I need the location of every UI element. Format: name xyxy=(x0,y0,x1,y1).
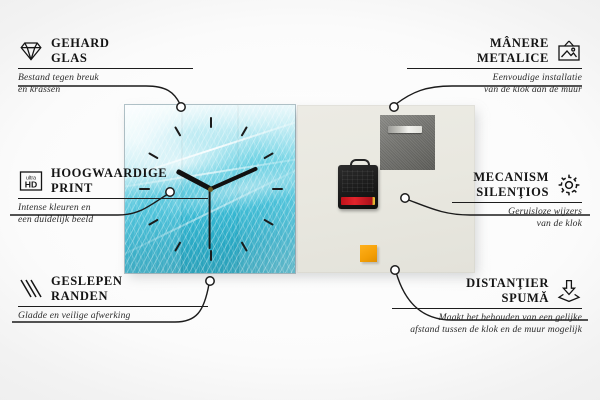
feature-title-line1: HOOGWAARDIGE xyxy=(51,166,167,181)
feature-header: MECANISM SILENŢIOS xyxy=(452,170,582,200)
feature-gehard-glas: GEHARD GLAS Bestand tegen breuk en krass… xyxy=(18,36,193,96)
feature-desc-line1: Bestand tegen breuk xyxy=(18,72,193,84)
battery xyxy=(341,197,375,205)
feature-title-line1: MECANISM xyxy=(473,170,549,185)
feature-title-line2: SILENŢIOS xyxy=(473,185,549,200)
feature-desc-line1: Geruisloze wijzers xyxy=(452,206,582,218)
feature-title-line1: GESLEPEN xyxy=(51,274,123,289)
feature-divider xyxy=(18,198,208,199)
feature-manere-metalice: MÂNERE METALICE Eenvoudige installatie v… xyxy=(407,36,582,96)
foam-spacer xyxy=(360,245,377,262)
feature-geslepen-randen: GESLEPEN RANDEN Gladde en veilige afwerk… xyxy=(18,274,208,322)
feature-header: ultra HD HOOGWAARDIGE PRINT xyxy=(18,166,208,196)
feature-desc-line2: afstand tussen de klok en de muur mogeli… xyxy=(392,324,582,336)
second-hand xyxy=(209,189,211,249)
feature-desc-line1: Maakt het behouden van een gelijke xyxy=(392,312,582,324)
feature-desc-line1: Intense kleuren en xyxy=(18,202,208,214)
hands-center-cap xyxy=(208,187,213,192)
feature-divider xyxy=(452,202,582,203)
feature-title-line1: MÂNERE xyxy=(477,36,549,51)
gear-icon xyxy=(556,172,582,198)
feature-divider xyxy=(392,308,582,309)
feature-title-line2: PRINT xyxy=(51,181,167,196)
feature-title-line2: GLAS xyxy=(51,51,109,66)
quartz-mechanism xyxy=(338,165,378,209)
svg-text:HD: HD xyxy=(25,180,37,190)
feature-mecanism-silentios: MECANISM SILENŢIOS Geruisloze wijzers va… xyxy=(452,170,582,230)
feature-title-line2: SPUMĂ xyxy=(466,291,549,306)
feature-divider xyxy=(407,68,582,69)
mechanism-texture xyxy=(342,170,374,192)
feature-desc-line2: een duidelijk beeld xyxy=(18,214,208,226)
feature-title-line1: DISTANŢIER xyxy=(466,276,549,291)
feature-title-line1: GEHARD xyxy=(51,36,109,51)
hanger-slot xyxy=(388,126,422,133)
picture-frame-icon xyxy=(556,38,582,64)
feature-divider xyxy=(18,306,208,307)
ultra-hd-icon: ultra HD xyxy=(18,168,44,194)
feature-distantier-spuma: DISTANŢIER SPUMĂ Maakt het behouden van … xyxy=(392,276,582,336)
feature-desc-line2: en krassen xyxy=(18,84,193,96)
diagonal-lines-icon xyxy=(18,276,44,302)
metal-hanger xyxy=(380,115,435,170)
feature-header: DISTANŢIER SPUMĂ xyxy=(392,276,582,306)
clock-back-panel xyxy=(297,105,475,273)
feature-desc-line1: Gladde en veilige afwerking xyxy=(18,310,208,322)
down-arrow-layers-icon xyxy=(556,278,582,304)
feature-header: GEHARD GLAS xyxy=(18,36,193,66)
feature-title-line2: METALICE xyxy=(477,51,549,66)
feature-divider xyxy=(18,68,193,69)
feature-header: GESLEPEN RANDEN xyxy=(18,274,208,304)
feature-desc-line1: Eenvoudige installatie xyxy=(407,72,582,84)
diamond-icon xyxy=(18,38,44,64)
feature-desc-line2: van de klok aan de muur xyxy=(407,84,582,96)
feature-title-line2: RANDEN xyxy=(51,289,123,304)
feature-header: MÂNERE METALICE xyxy=(407,36,582,66)
feature-hoogwaardige-print: ultra HD HOOGWAARDIGE PRINT Intense kleu… xyxy=(18,166,208,226)
feature-desc-line2: van de klok xyxy=(452,218,582,230)
infographic-canvas: GEHARD GLAS Bestand tegen breuk en krass… xyxy=(0,0,600,400)
